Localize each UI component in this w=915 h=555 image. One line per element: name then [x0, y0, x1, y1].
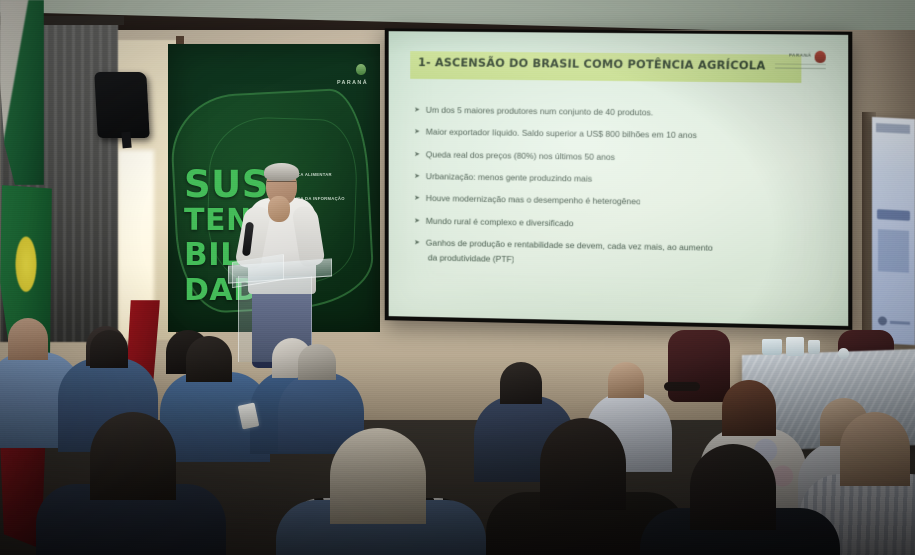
- banner-line-1: SUS: [184, 166, 269, 203]
- bullet-arrow-icon: ➤: [414, 237, 420, 247]
- audience-person-head: [298, 344, 336, 380]
- banner-logo: PARANÁ: [324, 64, 368, 86]
- slide-bullet: ➤ Maior exportador líquido. Saldo superi…: [414, 127, 824, 144]
- pa-speaker-icon: [94, 72, 150, 138]
- poster-heading-block: [876, 123, 910, 134]
- slide-bullet: ➤ Queda real dos preços (80%) nos último…: [414, 149, 824, 166]
- poster-band: [877, 209, 910, 221]
- cup: [762, 339, 782, 355]
- cup: [786, 337, 804, 356]
- wall-poster: [872, 117, 915, 345]
- audience-person-head: [722, 380, 776, 436]
- cup: [838, 348, 849, 359]
- bullet-arrow-icon: ➤: [414, 149, 420, 159]
- audience-person-head: [90, 330, 128, 368]
- cup: [808, 340, 820, 354]
- poster-footer-line: [890, 321, 910, 325]
- speaker-glasses: [267, 181, 296, 186]
- audience-person-head: [690, 444, 776, 530]
- bullet-text: da produtividade (PTF): [428, 253, 824, 272]
- slide-corner-logo: PARANÁ: [773, 50, 826, 71]
- slide-bullet: ➤ Houve modernização mas o desempenho é …: [414, 193, 824, 211]
- audience-person-head: [840, 412, 910, 486]
- bullet-arrow-icon: ➤: [414, 105, 420, 115]
- chair: [668, 330, 730, 402]
- slide-crest-icon: [815, 51, 826, 63]
- audience-person-head: [540, 418, 626, 510]
- pa-speaker-bracket: [121, 132, 131, 149]
- audience-person-head: [90, 412, 176, 500]
- slide-logo-rule: [775, 68, 826, 70]
- bullet-arrow-icon: ➤: [414, 127, 420, 137]
- audience-person-head: [8, 318, 48, 360]
- projected-slide: 1- ASCENSÃO DO BRASIL COMO POTÊNCIA AGRÍ…: [389, 31, 849, 326]
- slide-logo-rule-upper: [775, 64, 826, 65]
- conference-photo-scene: SUS TENTA BILI DADE SEGURANÇA ALIMENTAR …: [0, 0, 915, 555]
- slide-bullet-continuation: da produtividade (PTF): [414, 253, 824, 272]
- bullet-arrow-icon: ➤: [414, 193, 420, 203]
- bullet-text: Queda real dos preços (80%) nos últimos …: [426, 149, 824, 166]
- slide-bullet: ➤ Mundo rural é complexo e diversificado: [414, 215, 824, 233]
- bullet-text: Mundo rural é complexo e diversificado: [426, 216, 824, 234]
- audience-person-head: [500, 362, 542, 404]
- bullet-text: Houve modernização mas o desempenho é he…: [426, 193, 824, 211]
- speaker-hand: [268, 196, 290, 222]
- slide-bullet: ➤ Um dos 5 maiores produtores num conjun…: [414, 105, 824, 121]
- poster-icon: [878, 316, 887, 325]
- banner-logo-wordmark: PARANÁ: [337, 80, 368, 86]
- bullet-text: Urbanização: menos gente produzindo mais: [426, 171, 824, 188]
- bullet-arrow-icon: ➤: [414, 215, 420, 225]
- poster-text-block: [878, 229, 909, 273]
- banner-crest-icon: [356, 64, 366, 75]
- slide-logo-wordmark: PARANÁ: [789, 53, 812, 58]
- bullet-text: Maior exportador líquido. Saldo superior…: [426, 127, 824, 143]
- chair-armrest: [664, 382, 700, 391]
- slide-bullet-list: ➤ Um dos 5 maiores produtores num conjun…: [414, 105, 824, 283]
- speaker-hair: [264, 163, 299, 181]
- slide-bullet: ➤ Urbanização: menos gente produzindo ma…: [414, 171, 824, 188]
- audience-person-head: [608, 362, 644, 398]
- audience-person-head: [330, 428, 426, 524]
- bullet-text: Um dos 5 maiores produtores num conjunto…: [426, 105, 824, 121]
- bullet-arrow-icon: ➤: [414, 171, 420, 181]
- audience-person-head: [186, 336, 232, 382]
